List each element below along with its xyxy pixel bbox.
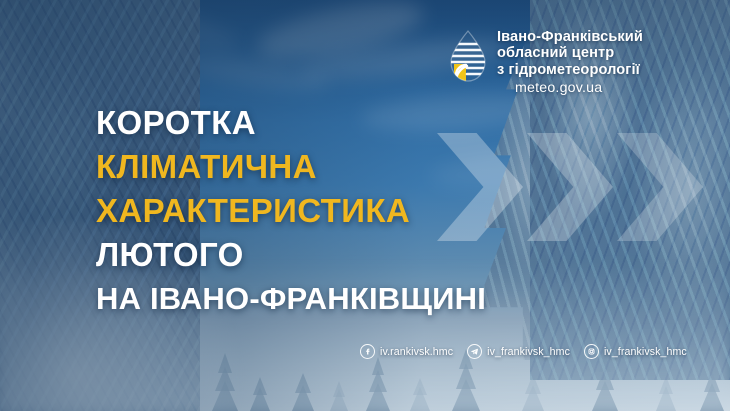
- org-name-line-2: обласний центр: [497, 45, 643, 61]
- organization-name: Івано-Франківський обласний центр з гідр…: [497, 28, 643, 96]
- social-link-telegram[interactable]: iv_frankivsk_hmc: [467, 344, 570, 359]
- facebook-handle: iv.rankivsk.hmc: [380, 346, 453, 358]
- social-links-bar: iv.rankivsk.hmc iv_frankivsk_hmc iv_fran…: [360, 344, 687, 359]
- headline-line-4: ЛЮТОГО: [96, 233, 616, 277]
- org-name-line-3: з гідрометеорології: [497, 62, 643, 78]
- telegram-icon: [467, 344, 482, 359]
- headline-block: КОРОТКА КЛІМАТИЧНА ХАРАКТЕРИСТИКА ЛЮТОГО…: [96, 101, 616, 321]
- social-link-instagram[interactable]: iv_frankivsk_hmc: [584, 344, 687, 359]
- headline-line-1: КОРОТКА: [96, 101, 616, 145]
- facebook-icon: [360, 344, 375, 359]
- headline-line-5: НА ІВАНО-ФРАНКІВЩИНІ: [96, 277, 616, 321]
- organization-logo: Івано-Франківський обласний центр з гідр…: [448, 28, 643, 96]
- social-link-facebook[interactable]: iv.rankivsk.hmc: [360, 344, 453, 359]
- org-name-line-1: Івано-Франківський: [497, 29, 643, 45]
- climate-characteristic-banner: Івано-Франківський обласний центр з гідр…: [0, 0, 730, 411]
- water-droplet-icon: [448, 30, 488, 82]
- headline-line-2: КЛІМАТИЧНА: [96, 145, 616, 189]
- instagram-icon: [584, 344, 599, 359]
- headline-line-3: ХАРАКТЕРИСТИКА: [96, 189, 616, 233]
- instagram-handle: iv_frankivsk_hmc: [604, 346, 687, 358]
- telegram-handle: iv_frankivsk_hmc: [487, 346, 570, 358]
- website-url[interactable]: meteo.gov.ua: [515, 80, 643, 96]
